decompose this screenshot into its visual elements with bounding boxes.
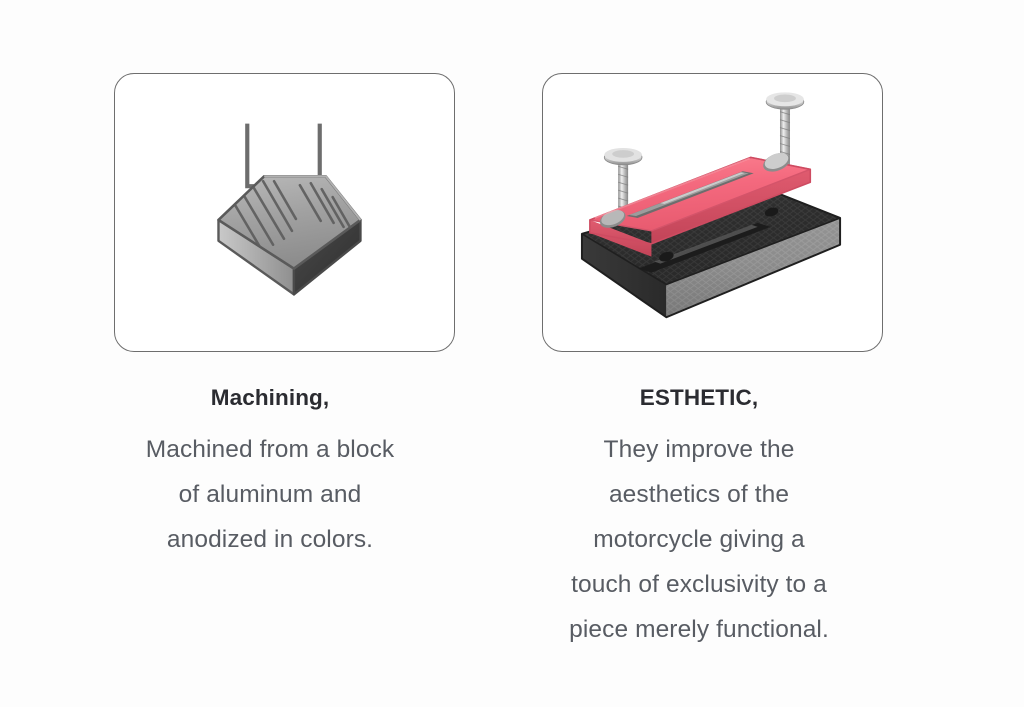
machining-body-line-1: Machined from a block bbox=[55, 427, 485, 472]
machining-text-block: Machining, Machined from a block of alum… bbox=[55, 381, 485, 562]
esthetic-heading: ESTHETIC, bbox=[484, 381, 914, 415]
esthetic-body-line-4: touch of exclusivity to a bbox=[484, 562, 914, 607]
feature-cards-stage: Machining, Machined from a block of alum… bbox=[0, 0, 1024, 707]
esthetic-text-block: ESTHETIC, They improve the aesthetics of… bbox=[484, 381, 914, 652]
esthetic-body-line-3: motorcycle giving a bbox=[484, 517, 914, 562]
machining-icon-card bbox=[114, 73, 455, 352]
esthetic-body-line-5: piece merely functional. bbox=[484, 607, 914, 652]
machining-body-line-2: of aluminum and bbox=[55, 472, 485, 517]
cnc-milling-machine-icon bbox=[115, 74, 454, 351]
esthetic-icon-card bbox=[542, 73, 883, 352]
machining-heading: Machining, bbox=[55, 381, 485, 415]
machining-body-line-3: anodized in colors. bbox=[55, 517, 485, 562]
esthetic-body-line-2: aesthetics of the bbox=[484, 472, 914, 517]
anodized-plate-with-screws-icon bbox=[543, 74, 882, 351]
esthetic-body-line-1: They improve the bbox=[484, 427, 914, 472]
